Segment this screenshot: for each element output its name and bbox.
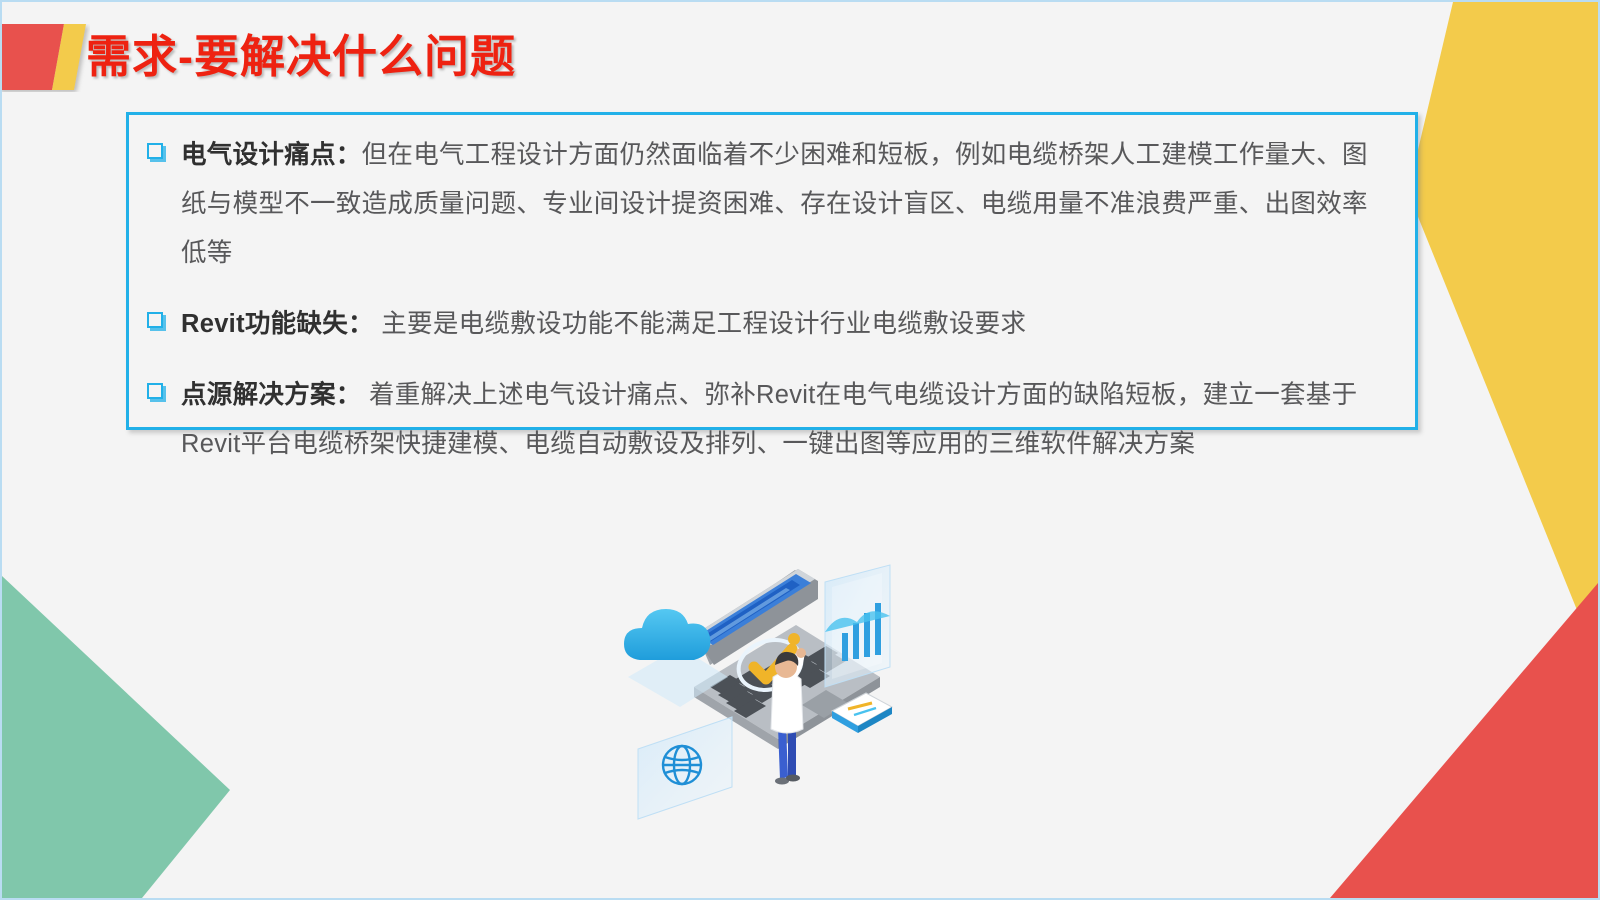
title-accent-bar [0, 24, 90, 92]
slide-canvas: 需求-要解决什么问题 电气设计痛点：但在电气工程设计方面仍然面临着不少困难和短板… [0, 0, 1600, 900]
bullet-body-2: 主要是电缆敷设功能不能满足工程设计行业电缆敷设要求 [374, 310, 1026, 338]
bullet-lead-3: 点源解决方案： [181, 381, 362, 409]
bullet-text-1: 电气设计痛点：但在电气工程设计方面仍然面临着不少困难和短板，例如电缆桥架人工建模… [181, 131, 1393, 278]
globe-panel-icon [638, 717, 732, 819]
bullet-lead-2: Revit功能缺失： [181, 310, 374, 338]
bullet-item-2: Revit功能缺失： 主要是电缆敷设功能不能满足工程设计行业电缆敷设要求 [147, 300, 1393, 349]
green-corner-decoration [2, 568, 262, 898]
bullet-text-3: 点源解决方案： 着重解决上述电气设计痛点、弥补Revit在电气电缆设计方面的缺陷… [181, 371, 1393, 469]
bullet-lead-1: 电气设计痛点： [181, 141, 362, 169]
square-bullet-icon [147, 383, 163, 399]
bullet-text-2: Revit功能缺失： 主要是电缆敷设功能不能满足工程设计行业电缆敷设要求 [181, 300, 1393, 349]
content-box: 电气设计痛点：但在电气工程设计方面仍然面临着不少困难和短板，例如电缆桥架人工建模… [126, 112, 1418, 430]
isometric-laptop-illustration [610, 537, 920, 827]
red-corner-decoration [1268, 568, 1598, 898]
square-bullet-icon [147, 312, 163, 328]
bullet-item-3: 点源解决方案： 着重解决上述电气设计痛点、弥补Revit在电气电缆设计方面的缺陷… [147, 371, 1393, 469]
bar-chart-panel-icon [825, 565, 890, 687]
person-icon [771, 648, 806, 785]
page-title: 需求-要解决什么问题 [86, 24, 516, 90]
bullet-item-1: 电气设计痛点：但在电气工程设计方面仍然面临着不少困难和短板，例如电缆桥架人工建模… [147, 131, 1393, 278]
square-bullet-icon [147, 143, 163, 159]
